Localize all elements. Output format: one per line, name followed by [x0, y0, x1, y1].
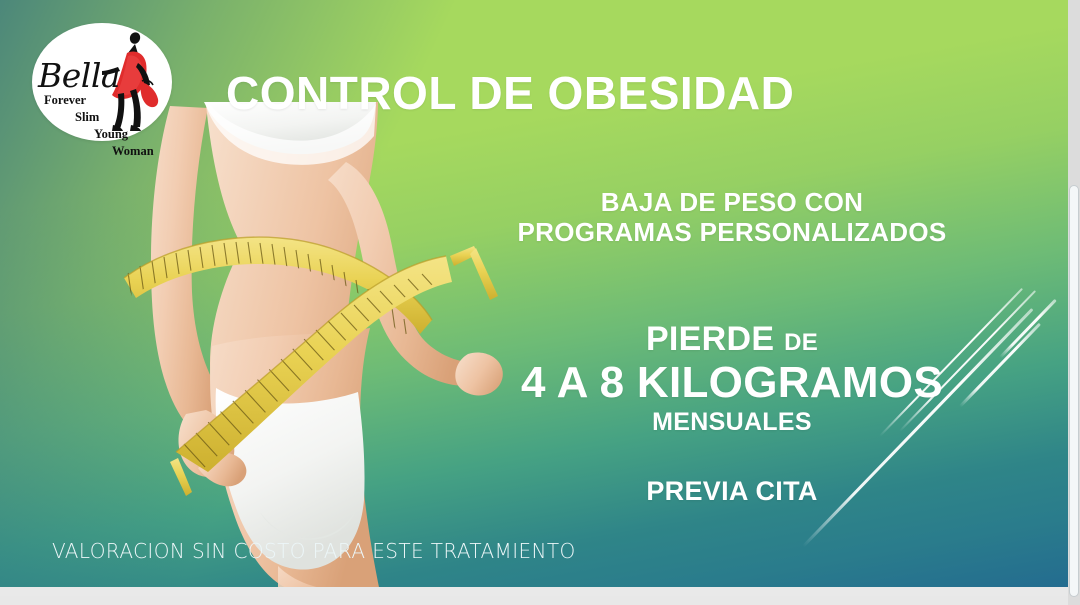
banner-footnote: VALORACION SIN COSTO PARA ESTE TRATAMIEN…: [52, 539, 576, 563]
banner-offer: PIERDE DE 4 A 8 KILOGRAMOS MENSUALES: [452, 322, 1012, 435]
logo-tagline-slim: Slim: [75, 110, 99, 125]
offer-lead-preposition: DE: [784, 329, 818, 356]
browser-viewport: Bella Forever Slim Young Woman CONTROL D…: [0, 0, 1080, 605]
vertical-scrollbar-track[interactable]: [1068, 0, 1080, 605]
bella-logo: Bella Forever Slim Young Woman: [32, 23, 172, 141]
page-bottom-edge: [0, 587, 1068, 596]
logo-tagline-forever: Forever: [44, 93, 86, 108]
banner-title: CONTROL DE OBESIDAD: [226, 66, 794, 120]
banner-subheading: BAJA DE PESO CON PROGRAMAS PERSONALIZADO…: [452, 188, 1012, 247]
offer-period: MENSUALES: [452, 409, 1012, 435]
logo-brand-text: Bella: [38, 56, 120, 95]
vertical-scrollbar-thumb[interactable]: [1069, 185, 1079, 597]
promo-banner: Bella Forever Slim Young Woman CONTROL D…: [0, 0, 1068, 596]
logo-tagline-young: Young: [94, 127, 128, 142]
offer-lead-word: PIERDE: [646, 320, 774, 358]
woman-measuring-tape-photo: [28, 96, 508, 596]
offer-amount: 4 A 8 KILOGRAMOS: [452, 360, 1012, 406]
subheading-line-2: PROGRAMAS PERSONALIZADOS: [452, 218, 1012, 248]
offer-lead-line: PIERDE DE: [452, 322, 1012, 358]
appointment-note: PREVIA CITA: [452, 476, 1012, 507]
logo-tagline-woman: Woman: [112, 144, 154, 159]
subheading-line-1: BAJA DE PESO CON: [452, 188, 1012, 218]
